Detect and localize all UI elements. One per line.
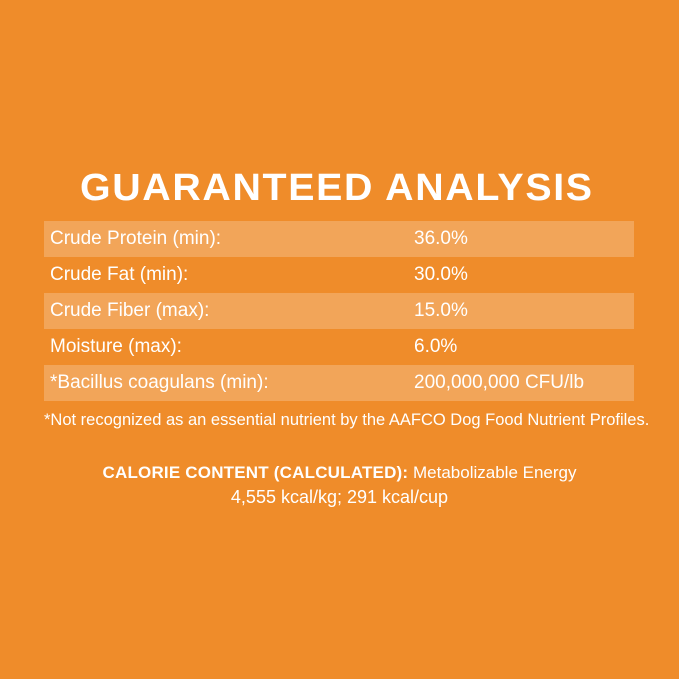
nutrient-value: 15.0% [414, 300, 468, 322]
nutrient-value: 30.0% [414, 264, 468, 286]
guaranteed-analysis-panel: GUARANTEED ANALYSIS Crude Protein (min):… [0, 0, 679, 679]
nutrient-label: *Bacillus coagulans (min): [44, 372, 269, 394]
nutrient-value: 6.0% [414, 336, 457, 358]
table-row: Crude Fat (min): 30.0% [44, 257, 634, 293]
nutrient-label: Crude Protein (min): [44, 228, 221, 250]
table-row: Crude Protein (min): 36.0% [44, 221, 634, 257]
table-row: *Bacillus coagulans (min): 200,000,000 C… [44, 365, 634, 401]
page-title: GUARANTEED ANALYSIS [80, 166, 624, 210]
calorie-content-block: CALORIE CONTENT (CALCULATED): Metaboliza… [0, 461, 679, 509]
calorie-content-heading: CALORIE CONTENT (CALCULATED): Metaboliza… [0, 461, 679, 485]
calorie-values: 4,555 kcal/kg; 291 kcal/cup [0, 485, 679, 509]
nutrient-value: 36.0% [414, 228, 468, 250]
calorie-energy-type-text: Metabolizable Energy [413, 463, 576, 482]
nutrient-label: Crude Fiber (max): [44, 300, 209, 322]
guaranteed-analysis-table: Crude Protein (min): 36.0% Crude Fat (mi… [44, 221, 634, 401]
nutrient-value: 200,000,000 CFU/lb [414, 372, 584, 394]
aafco-footnote: *Not recognized as an essential nutrient… [44, 409, 644, 431]
table-row: Crude Fiber (max): 15.0% [44, 293, 634, 329]
table-row: Moisture (max): 6.0% [44, 329, 634, 365]
calorie-content-label: CALORIE CONTENT (CALCULATED): [102, 463, 408, 482]
nutrient-label: Moisture (max): [44, 336, 182, 358]
nutrient-label: Crude Fat (min): [44, 264, 188, 286]
